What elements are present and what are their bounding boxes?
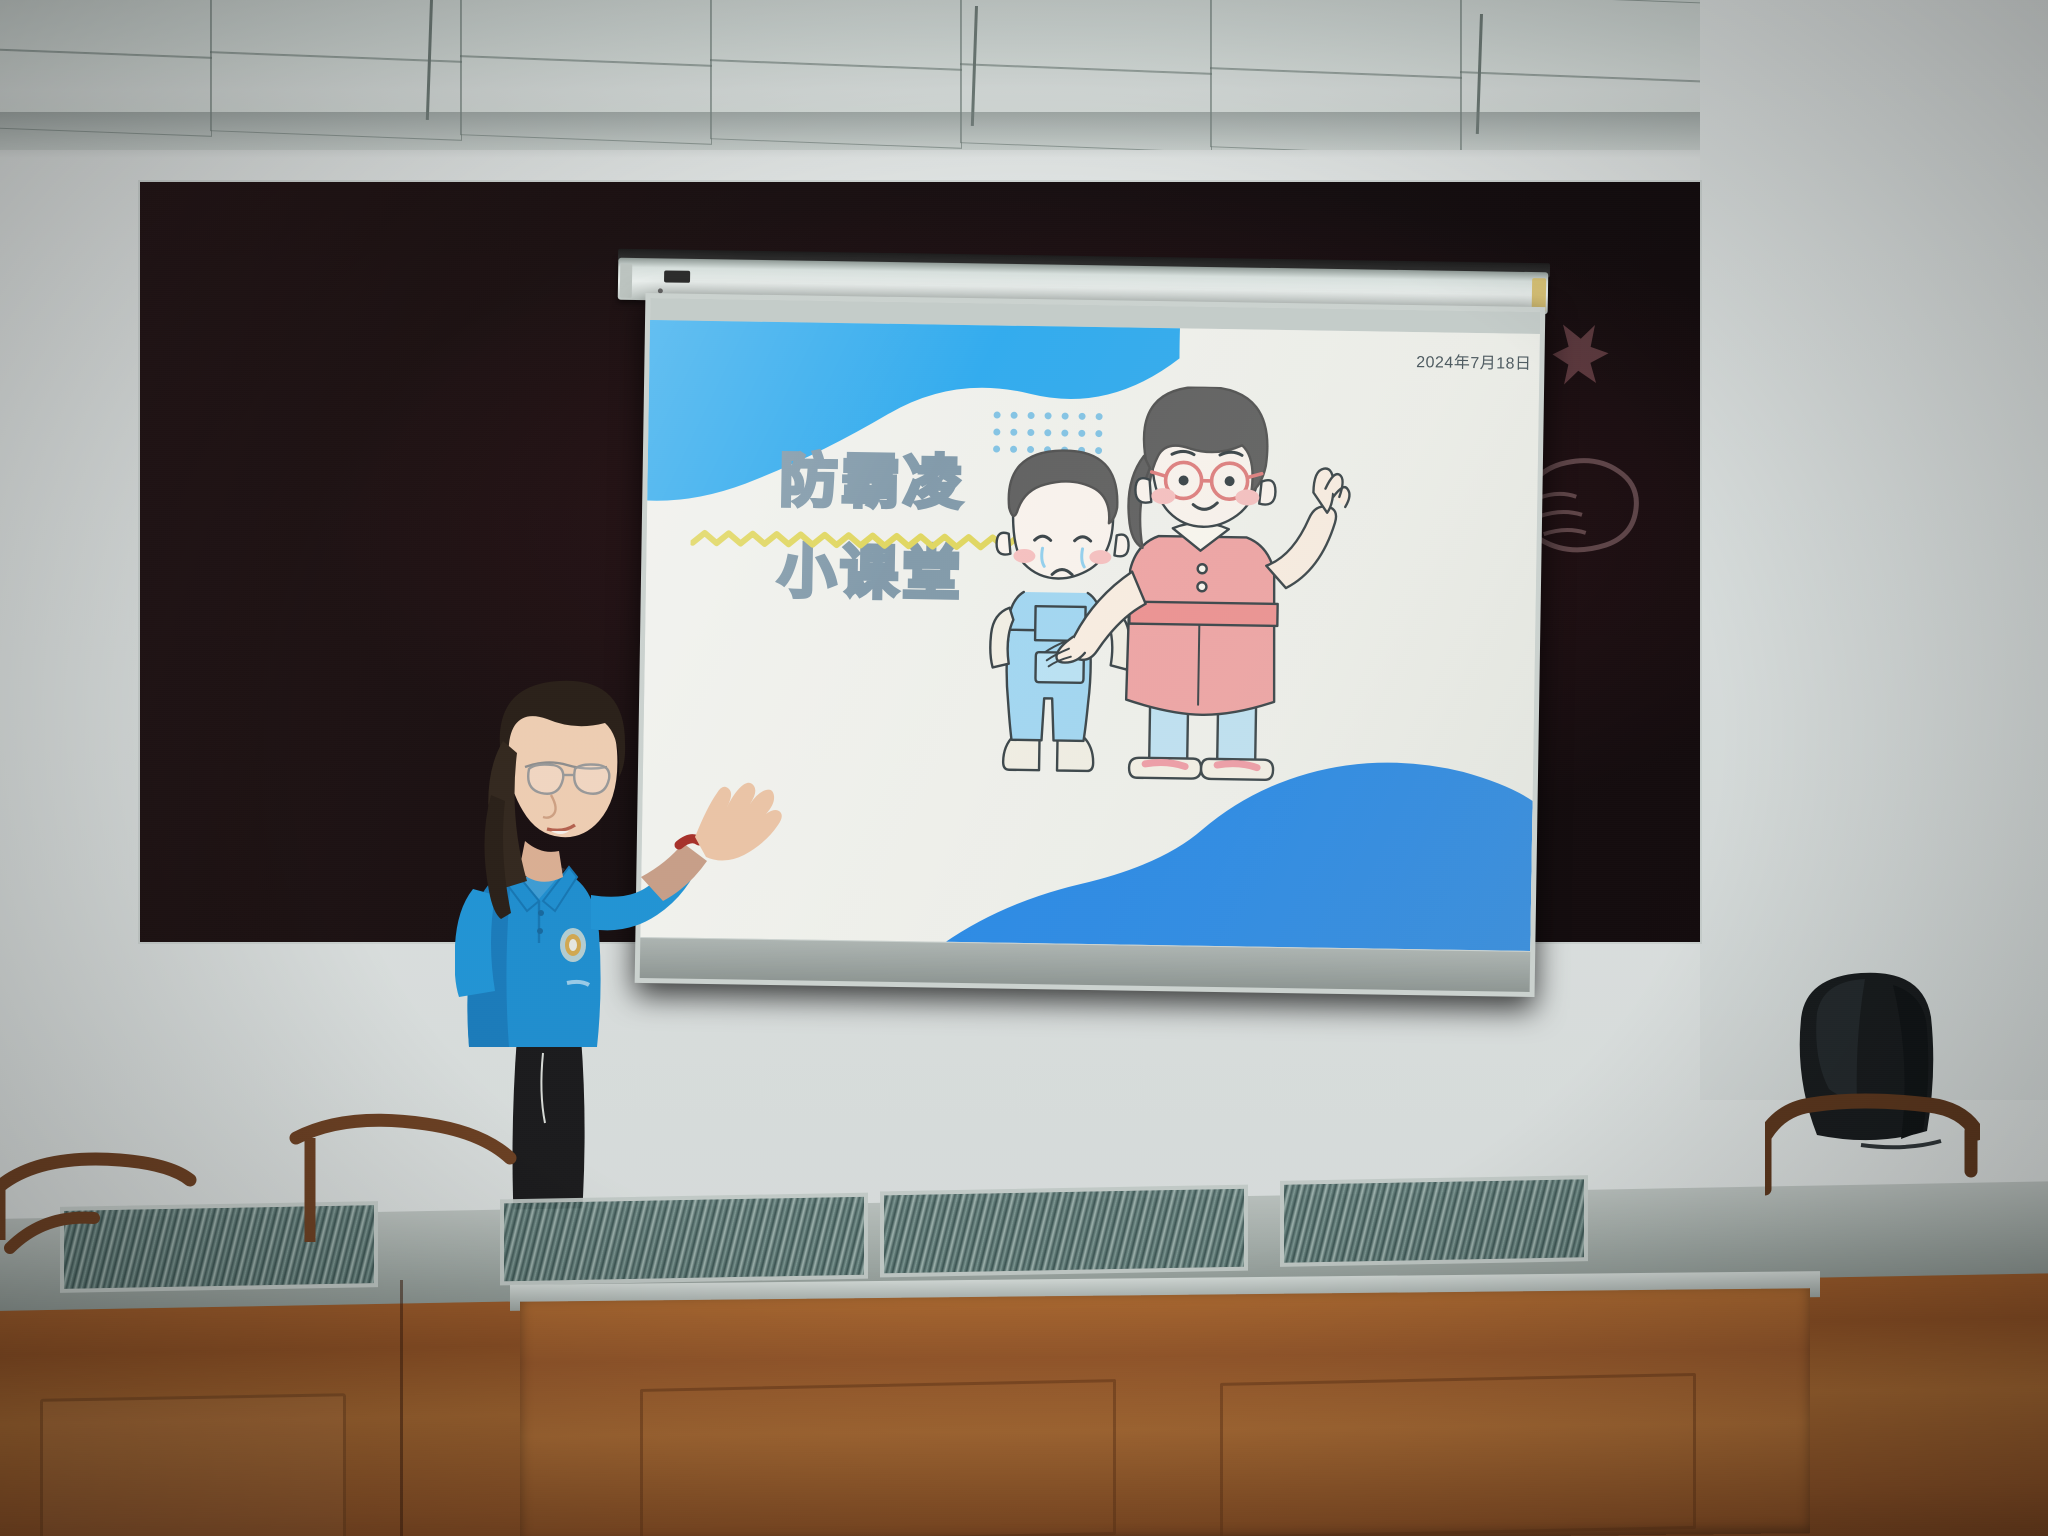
character-girl-glasses	[1043, 384, 1351, 781]
desk-inlay-panel	[1280, 1175, 1588, 1267]
desk-inlay-panel	[880, 1185, 1248, 1278]
slide-date: 2024年7月18日	[1416, 348, 1532, 374]
executive-leather-chair	[1765, 955, 1980, 1225]
desk-inlay-panel	[500, 1193, 868, 1286]
fist-graphic-icon	[1527, 394, 1664, 587]
shirt-logo-badge	[560, 928, 586, 962]
housing-bracket-icon	[664, 270, 690, 282]
podium-front	[520, 1288, 1810, 1536]
right-wall	[1700, 0, 2048, 1100]
impact-mark-icon	[1542, 314, 1613, 395]
wooden-chair	[0, 1140, 220, 1270]
conference-room-photo: 2024年7月18日 防霸凌 小课堂	[0, 0, 2048, 1536]
illustration-two-children	[972, 383, 1399, 820]
projection-spill	[1527, 304, 1664, 726]
wooden-chair	[288, 1110, 518, 1260]
